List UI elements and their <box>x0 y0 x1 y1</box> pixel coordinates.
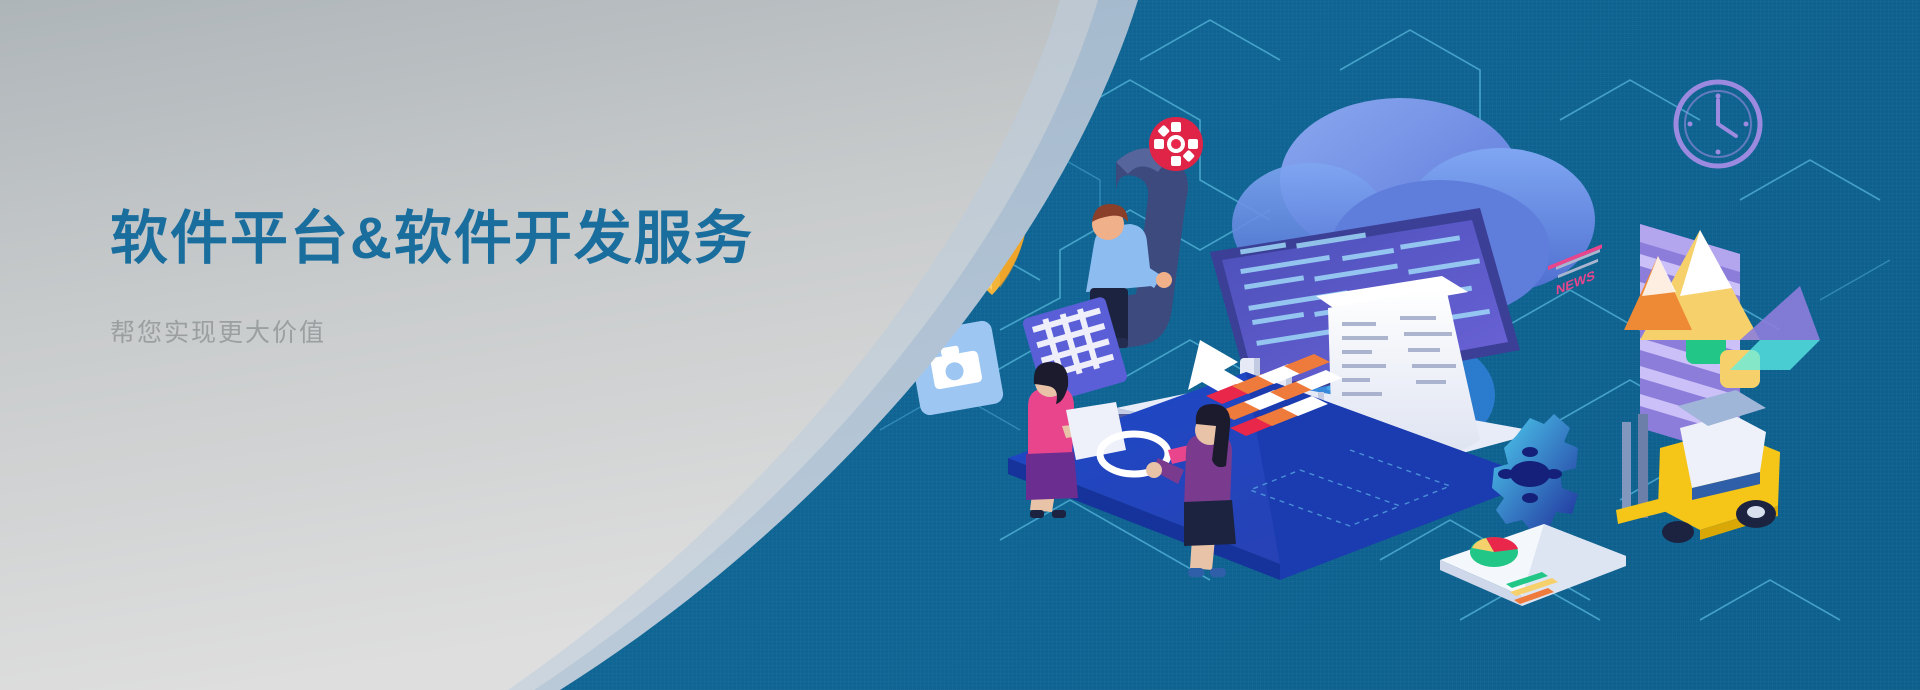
page-subtitle: 帮您实现更大价值 <box>110 313 870 349</box>
banner-copy: 软件平台&软件开发服务 帮您实现更大价值 <box>110 206 870 349</box>
hero-banner: NEWS <box>0 0 1920 690</box>
page-title: 软件平台&软件开发服务 <box>110 206 870 273</box>
